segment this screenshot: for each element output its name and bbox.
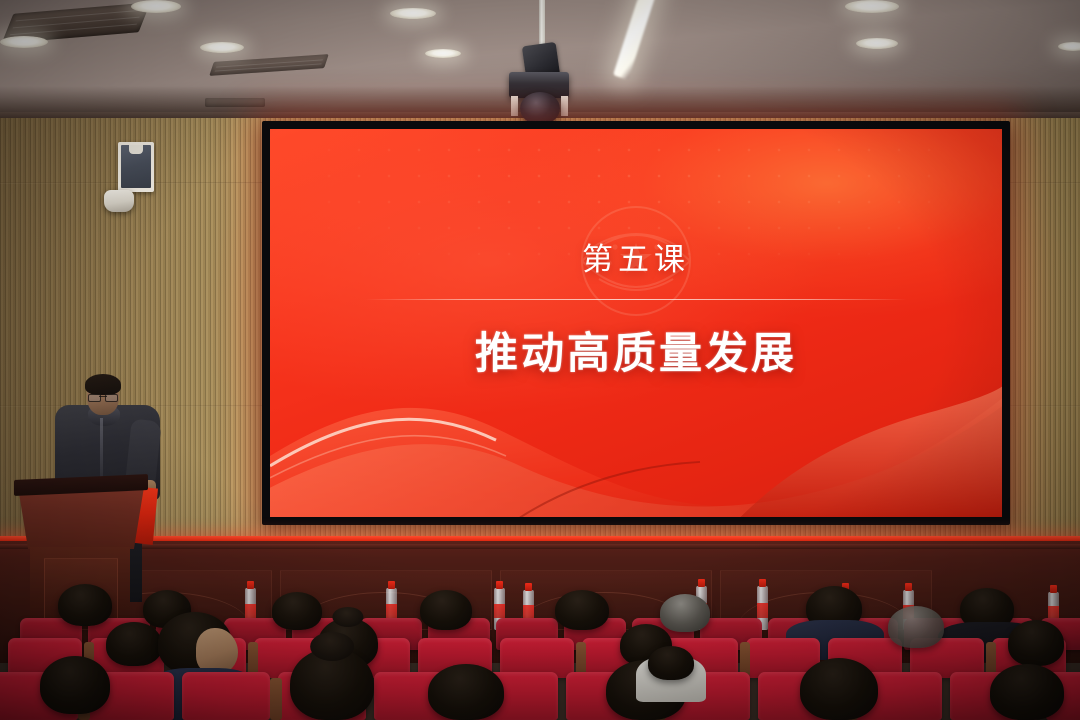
ceiling-downlight-3 xyxy=(200,42,244,53)
speaker-eyeglasses xyxy=(88,394,118,400)
led-screen-frame: 第五课 推动高质量发展 xyxy=(262,121,1010,525)
slide-title-block: 第五课 推动高质量发展 xyxy=(270,234,1002,381)
seat-armrest xyxy=(986,642,996,676)
audience-head xyxy=(1008,620,1064,666)
ceiling-downlight-4 xyxy=(390,8,436,19)
camera-bracket-left xyxy=(511,96,518,116)
wall-mounted-display xyxy=(118,142,154,192)
seat-armrest xyxy=(740,642,750,676)
audience-head xyxy=(272,592,322,630)
ceiling-vent-far xyxy=(205,98,265,107)
audience-head xyxy=(555,590,609,630)
audience-head-grey xyxy=(660,594,710,632)
audience-area xyxy=(0,560,1080,720)
audience-head xyxy=(40,656,110,714)
seat xyxy=(182,672,270,720)
slide-divider xyxy=(365,299,907,300)
led-screen: 第五课 推动高质量发展 xyxy=(270,129,1002,517)
podium-desk xyxy=(18,487,144,549)
slide-lesson-number: 第五课 xyxy=(270,234,1002,279)
camera-bracket-right xyxy=(561,96,568,116)
seat-armrest xyxy=(576,642,586,676)
wall-display-screen xyxy=(121,145,151,188)
ceiling-downlight-6 xyxy=(845,0,899,13)
seat-armrest xyxy=(248,642,258,676)
audience-head xyxy=(428,664,504,720)
stage-lip xyxy=(0,544,1080,549)
ceiling-downlight-1 xyxy=(0,36,48,48)
audience-head xyxy=(800,658,878,720)
ceiling-downlight-2 xyxy=(131,0,181,13)
audience-head-grey xyxy=(888,606,944,648)
audience-head xyxy=(106,622,162,666)
audience-head xyxy=(648,646,694,680)
audience-head xyxy=(420,590,472,630)
auditorium-scene: 第五课 推动高质量发展 xyxy=(0,0,1080,720)
wall-mounted-speaker xyxy=(104,190,134,212)
audience-head xyxy=(58,584,112,626)
audience-head xyxy=(990,664,1064,720)
ceiling-downlight-7 xyxy=(856,38,898,49)
ceiling-downlight-8 xyxy=(1058,42,1080,51)
audience-head-bun xyxy=(290,648,374,720)
ceiling-downlight-5 xyxy=(425,49,461,58)
seat-armrest xyxy=(270,678,282,720)
speaker-hair xyxy=(85,374,121,395)
slide-main-title: 推动高质量发展 xyxy=(270,319,1002,381)
